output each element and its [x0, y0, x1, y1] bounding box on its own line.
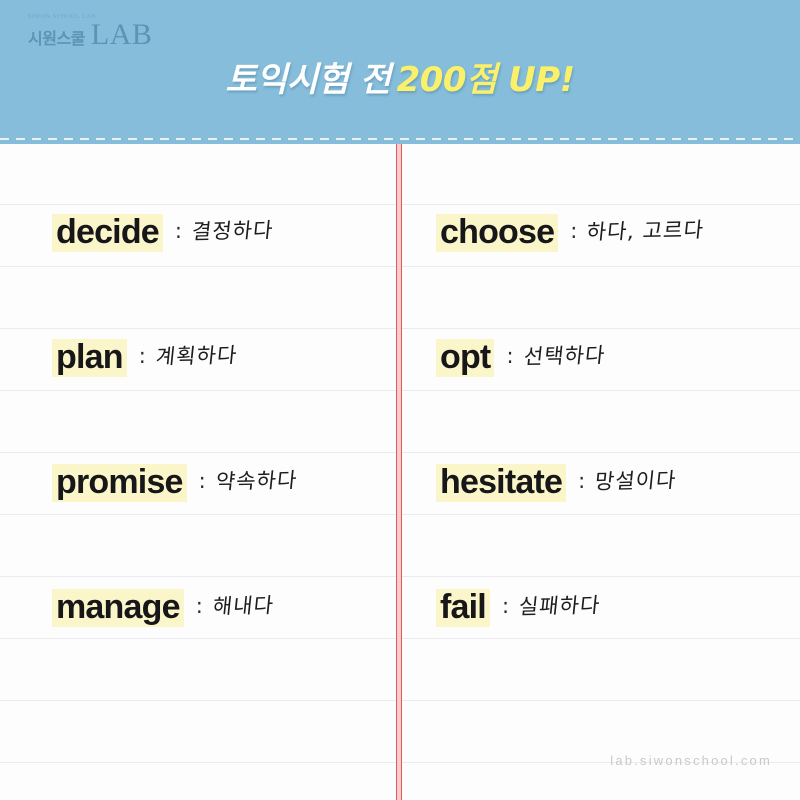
word-row: promise : 약속하다: [0, 452, 396, 514]
korean-meaning: 해내다: [211, 589, 275, 620]
korean-meaning: 결정하다: [190, 214, 275, 246]
word-row: plan : 계획하다: [0, 327, 396, 389]
separator-colon: :: [199, 469, 206, 493]
word-row: decide : 결정하다: [0, 202, 396, 264]
separator-colon: :: [570, 219, 577, 243]
page-title-white-part: 토익시험 전: [225, 60, 390, 100]
vocabulary-card: SIWON SCHOOL LAB 시원스쿨 LAB 토익시험 전200점 UP!…: [0, 0, 800, 800]
page-title-yellow-part: 200점 UP!: [397, 60, 575, 100]
english-term: fail: [436, 589, 490, 627]
banner-dashed-edge: [0, 138, 800, 140]
brand-logo: SIWON SCHOOL LAB 시원스쿨 LAB: [28, 14, 152, 48]
logo-korean-text: 시원스쿨: [28, 31, 85, 47]
center-red-divider: [396, 144, 402, 800]
english-term: plan: [52, 339, 127, 377]
logo-lab-text: LAB: [91, 22, 153, 48]
logo-main: 시원스쿨 LAB: [28, 22, 152, 48]
english-term: decide: [52, 214, 163, 252]
header-banner: SIWON SCHOOL LAB 시원스쿨 LAB 토익시험 전200점 UP!: [0, 0, 800, 144]
word-row: manage : 해내다: [0, 577, 396, 639]
english-term: opt: [436, 339, 494, 377]
separator-colon: :: [502, 594, 509, 618]
word-column-left: decide : 결정하다 plan : 계획하다 promise : 약속하다…: [0, 144, 396, 800]
separator-colon: :: [175, 219, 182, 243]
word-row: fail : 실패하다: [404, 577, 800, 639]
korean-meaning: 하다, 고르다: [586, 214, 706, 246]
korean-meaning: 약속하다: [214, 464, 299, 496]
korean-meaning: 망설이다: [594, 464, 679, 496]
word-row: opt : 선택하다: [404, 327, 800, 389]
english-term: hesitate: [436, 464, 566, 502]
separator-colon: :: [196, 594, 203, 618]
korean-meaning: 계획하다: [154, 339, 239, 371]
footer-url[interactable]: lab.siwonschool.com: [610, 753, 772, 768]
korean-meaning: 실패하다: [517, 589, 602, 621]
english-term: choose: [436, 214, 558, 252]
page-title: 토익시험 전200점 UP!: [0, 52, 800, 101]
separator-colon: :: [506, 344, 513, 368]
separator-colon: :: [578, 469, 585, 493]
english-term: manage: [52, 589, 184, 627]
korean-meaning: 선택하다: [522, 339, 607, 371]
word-column-right: choose : 하다, 고르다 opt : 선택하다 hesitate : 망…: [404, 144, 800, 800]
word-row: choose : 하다, 고르다: [404, 202, 800, 264]
english-term: promise: [52, 464, 187, 502]
word-row: hesitate : 망설이다: [404, 452, 800, 514]
separator-colon: :: [139, 344, 146, 368]
